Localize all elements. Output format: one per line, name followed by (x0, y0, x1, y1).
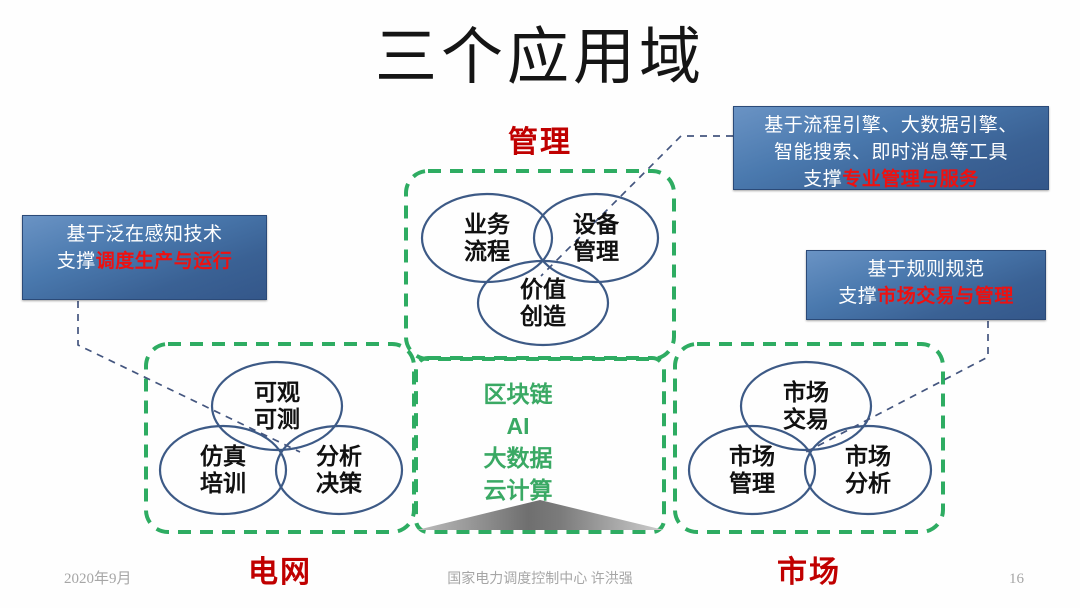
bubble-label-business-process: 业务 流程 (432, 211, 542, 265)
bubble-label-market-trading: 市场 交易 (751, 379, 861, 433)
footer-page-number: 16 (1009, 569, 1024, 589)
callout-management-line3: 支撑专业管理与服务 (742, 166, 1040, 193)
tech-stack-item-ai: AI (448, 410, 588, 442)
callout-management-line3-prefix: 支撑 (803, 169, 842, 190)
callout-grid-line2-highlight: 调度生产与运行 (96, 251, 233, 272)
callout-market-line2-highlight: 市场交易与管理 (877, 286, 1014, 307)
callout-management[interactable]: 基于流程引擎、大数据引擎、 智能搜索、即时消息等工具 支撑专业管理与服务 (733, 106, 1049, 190)
callout-market-line2: 支撑市场交易与管理 (815, 283, 1037, 310)
bubble-label-market-analysis: 市场 分析 (813, 443, 923, 497)
tech-stack-list: 区块链 AI 大数据 云计算 (448, 378, 588, 506)
tech-stack-item-big-data: 大数据 (448, 442, 588, 474)
bubble-label-analysis-decision: 分析 决策 (284, 443, 394, 497)
domain-boundary-market (675, 344, 943, 532)
bubble-label-simulation-training: 仿真 培训 (168, 443, 278, 497)
slide-canvas: 三个应用域 (0, 0, 1080, 608)
callout-grid-line1: 基于泛在感知技术 (31, 221, 258, 248)
callout-market-line1: 基于规则规范 (815, 256, 1037, 283)
callout-management-line1: 基于流程引擎、大数据引擎、 (742, 112, 1040, 139)
domain-caption-management: 管理 (460, 126, 620, 160)
callout-management-line2: 智能搜索、即时消息等工具 (742, 139, 1040, 166)
callout-grid[interactable]: 基于泛在感知技术 支撑调度生产与运行 (22, 215, 267, 300)
callout-grid-line2-prefix: 支撑 (57, 251, 96, 272)
callout-market-line2-prefix: 支撑 (838, 286, 877, 307)
domain-boundary-grid (146, 344, 414, 532)
callout-grid-line2: 支撑调度生产与运行 (31, 248, 258, 275)
bubble-label-value-creation: 价值 创造 (488, 276, 598, 330)
bubble-label-observable-measurable: 可观 可测 (222, 379, 332, 433)
footer-attribution: 国家电力调度控制中心 许洪强 (0, 570, 1080, 590)
callout-market[interactable]: 基于规则规范 支撑市场交易与管理 (806, 250, 1046, 320)
tech-stack-item-blockchain: 区块链 (448, 378, 588, 410)
tech-stack-item-cloud: 云计算 (448, 474, 588, 506)
bubble-label-equipment-management: 设备 管理 (541, 211, 651, 265)
callout-management-line3-highlight: 专业管理与服务 (842, 169, 979, 190)
bubble-label-market-management: 市场 管理 (697, 443, 807, 497)
